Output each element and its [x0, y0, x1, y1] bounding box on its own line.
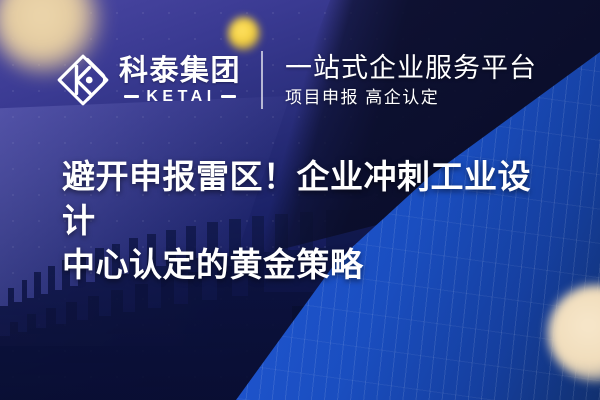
- dash-left-icon: [124, 95, 139, 98]
- headline: 避开申报雷区！企业冲刺工业设计 中心认定的黄金策略: [62, 155, 562, 287]
- headline-line-1: 避开申报雷区！企业冲刺工业设计: [62, 155, 562, 243]
- tagline-main: 一站式企业服务平台: [285, 52, 537, 84]
- brand-wordmark: 科泰集团 KETAI: [119, 56, 241, 105]
- tagline-sub: 项目申报 高企认定: [285, 87, 537, 109]
- brand-logo[interactable]: 科泰集团 KETAI: [56, 53, 241, 107]
- brand-name-en-row: KETAI: [119, 89, 241, 105]
- banner-header: 科泰集团 KETAI 一站式企业服务平台 项目申报 高企认定: [0, 42, 600, 118]
- brand-name-cn: 科泰集团: [119, 56, 241, 86]
- ketai-diamond-k-logo-icon: [56, 53, 110, 107]
- cream-moon-circle-icon: [548, 285, 600, 381]
- dash-right-icon: [221, 95, 236, 98]
- brand-name-en: KETAI: [139, 89, 220, 105]
- vertical-divider: [261, 51, 263, 109]
- promo-banner: 科泰集团 KETAI 一站式企业服务平台 项目申报 高企认定 避开申报雷区！企业…: [0, 0, 600, 400]
- tagline-block: 一站式企业服务平台 项目申报 高企认定: [285, 52, 537, 109]
- headline-line-2: 中心认定的黄金策略: [62, 243, 562, 287]
